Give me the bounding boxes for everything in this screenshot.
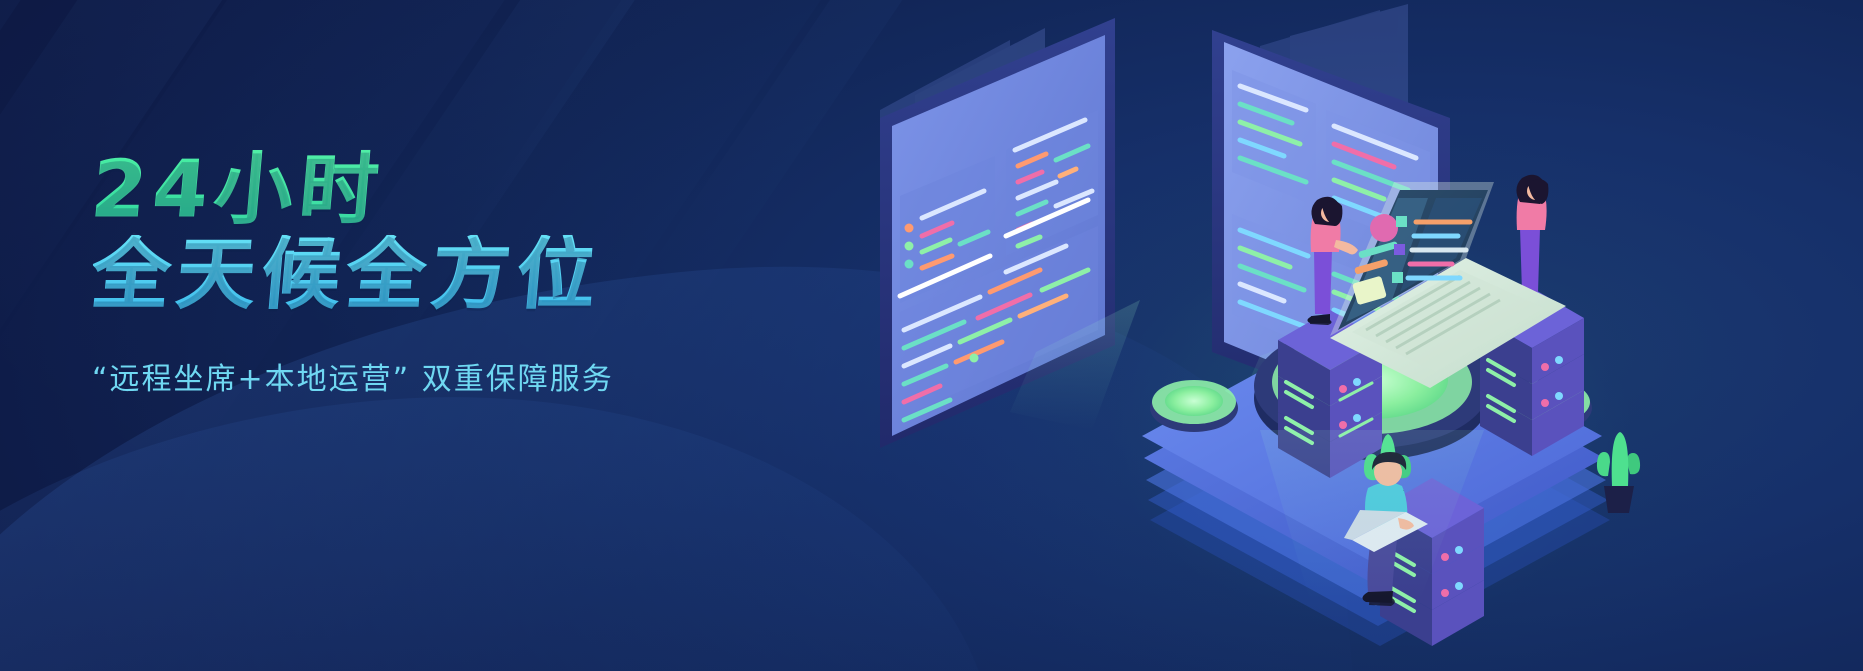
banner-root: 24小时 全天候全方位 “远程坐席+本地运营” 双重保障服务 xyxy=(0,0,1863,671)
glow-disc-left xyxy=(1150,380,1238,432)
illustration xyxy=(860,0,1863,671)
headline-line-2: 全天候全方位 xyxy=(88,235,815,316)
headline-line-1: 24小时 xyxy=(88,150,815,231)
headline-block: 24小时 全天候全方位 “远程坐席+本地运营” 双重保障服务 xyxy=(92,150,812,398)
bottom-wave-back xyxy=(0,369,1003,671)
isometric-scene-svg xyxy=(860,0,1863,671)
subtitle: “远程坐席+本地运营” 双重保障服务 xyxy=(92,354,812,398)
